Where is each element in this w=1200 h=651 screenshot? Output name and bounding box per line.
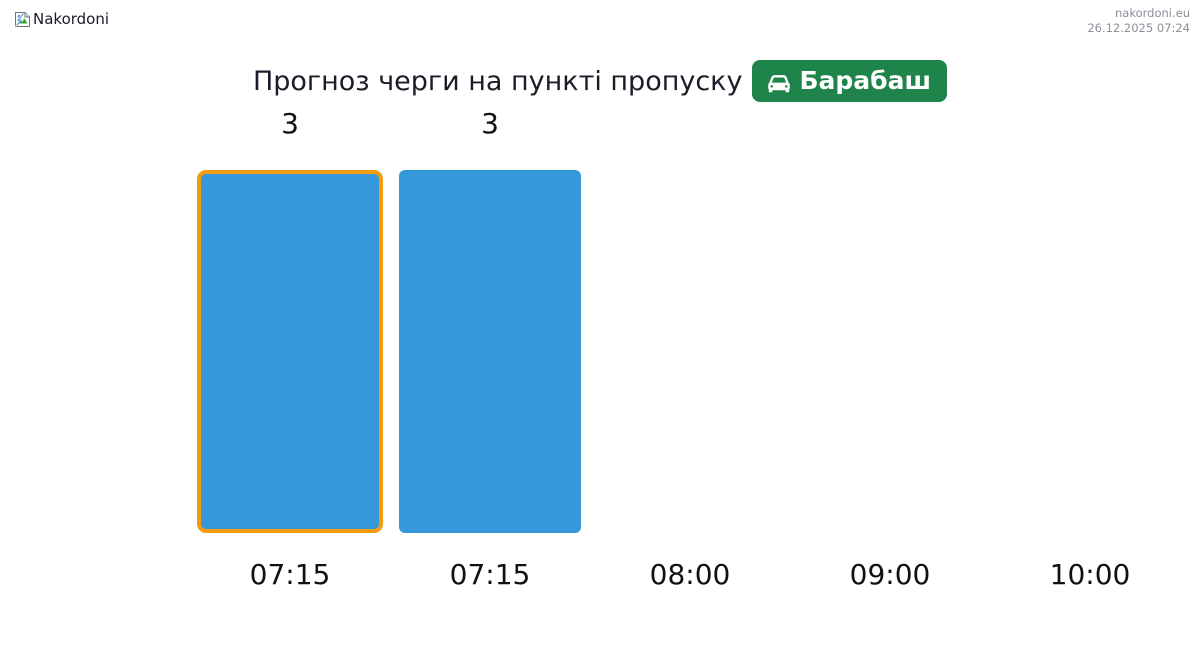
x-axis-tick-label: 07:15 (390, 558, 590, 592)
x-axis-tick-label: 07:15 (190, 558, 390, 592)
x-axis-tick-label: 09:00 (790, 558, 990, 592)
bar-slot: 3 07:15 (190, 0, 390, 651)
bar-rect-highlighted[interactable] (197, 170, 383, 533)
bar-slot: 3 07:15 (390, 0, 590, 651)
bar-value-label: 3 (190, 107, 390, 141)
bar-slot: 10:00 (990, 0, 1190, 651)
bar-slot: 09:00 (790, 0, 990, 651)
bar-value-label: 3 (390, 107, 590, 141)
bar-rect[interactable] (399, 170, 581, 533)
x-axis-tick-label: 10:00 (990, 558, 1190, 592)
queue-forecast-chart: 3 07:15 3 07:15 08:00 09:00 10:00 (0, 0, 1200, 651)
x-axis-tick-label: 08:00 (590, 558, 790, 592)
bar-slot: 08:00 (590, 0, 790, 651)
